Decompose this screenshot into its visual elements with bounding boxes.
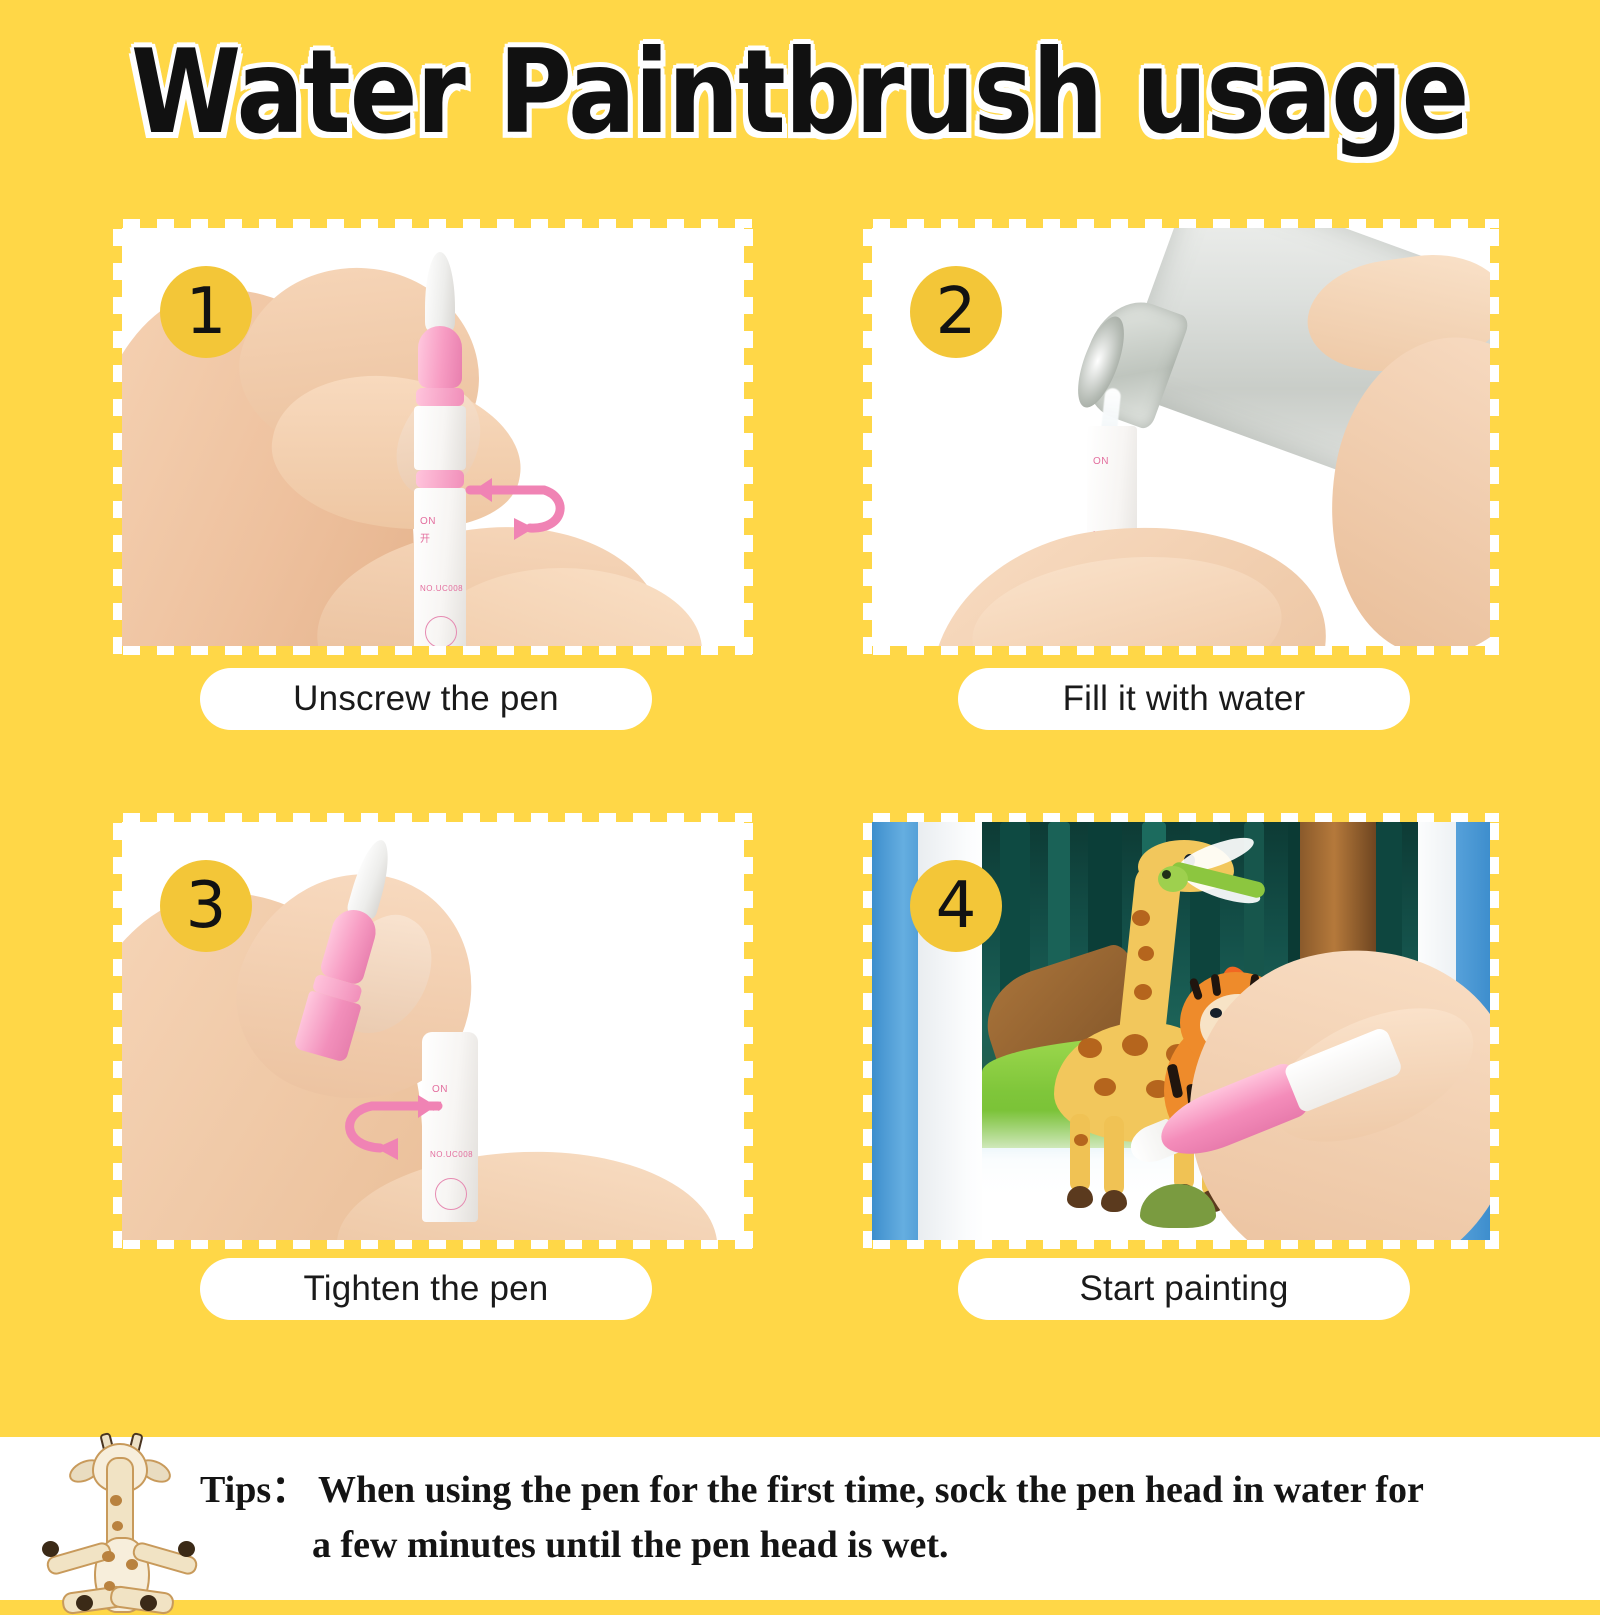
tips-text: Tips： When using the pen for the first t… (188, 1437, 1600, 1573)
giraffe-leg (1104, 1116, 1124, 1196)
rotate-arrow-icon (452, 468, 572, 558)
giraffe-spot (104, 1581, 115, 1591)
tips-line-1: When using the pen for the first time, s… (318, 1469, 1424, 1511)
step-caption-1: Unscrew the pen (200, 668, 652, 730)
step-panel-2: ON NO.UC008 2 (872, 228, 1490, 646)
pen-label-on: ON (420, 516, 436, 527)
dragonfly-head (1158, 866, 1188, 892)
step-number-badge-4: 4 (910, 860, 1002, 952)
pen-collar (418, 326, 462, 388)
step-panel-3: ON 开 NO.UC008 3 (122, 822, 744, 1240)
step-number-badge-1: 1 (160, 266, 252, 358)
pen-warning-icon (435, 1178, 467, 1210)
tips-strip: Tips： When using the pen for the first t… (0, 1437, 1600, 1600)
pen-warning-icon (425, 616, 457, 646)
step-number-badge-3: 3 (160, 860, 252, 952)
giraffe-spot (1094, 1078, 1116, 1096)
giraffe-spot (1122, 1034, 1148, 1056)
step-caption-4: Start painting (958, 1258, 1410, 1320)
tips-line-2: a few minutes until the pen head is wet. (312, 1518, 949, 1573)
giraffe-spot (1138, 946, 1154, 961)
title-bar: Water Paintbrush usage (0, 0, 1600, 185)
tips-label: Tips： (200, 1469, 309, 1511)
giraffe-yoga-mascot-icon (48, 1437, 188, 1597)
giraffe-hoof (76, 1595, 93, 1611)
giraffe-spot (110, 1495, 122, 1506)
step-caption-2: Fill it with water (958, 668, 1410, 730)
step-caption-3: Tighten the pen (200, 1258, 652, 1320)
rotate-arrow-icon (320, 1090, 450, 1180)
dragonfly-eye (1162, 870, 1171, 879)
giraffe-hoof (178, 1541, 195, 1557)
pen-barrel-upper (414, 406, 466, 470)
giraffe-spot (102, 1551, 115, 1562)
pen-nib (346, 836, 396, 919)
pen-nib (425, 252, 455, 330)
pen-label-code: NO.UC008 (420, 584, 463, 593)
giraffe-hoof (1101, 1190, 1127, 1212)
turtle-shell (1140, 1184, 1216, 1228)
pen-ring-upper (416, 388, 464, 406)
giraffe-hoof (1067, 1186, 1093, 1208)
step-panel-1: ON 开 NO.UC008 1 (122, 228, 744, 646)
giraffe-hoof (140, 1595, 157, 1611)
dragonfly (1146, 836, 1296, 926)
step-panel-4: 4 (872, 822, 1490, 1240)
giraffe-hoof (42, 1541, 59, 1557)
giraffe-spot (112, 1521, 123, 1531)
giraffe-spot (126, 1559, 138, 1570)
page-title: Water Paintbrush usage (131, 25, 1469, 160)
giraffe-leg (1070, 1114, 1090, 1192)
step-number-badge-2: 2 (910, 266, 1002, 358)
pen-label-on: ON (1093, 456, 1109, 467)
water-pen: ON 开 NO.UC008 (414, 252, 466, 646)
giraffe-spot (1074, 1134, 1088, 1146)
giraffe-spot (1078, 1038, 1102, 1058)
pen-label-cn: 开 (420, 530, 431, 545)
